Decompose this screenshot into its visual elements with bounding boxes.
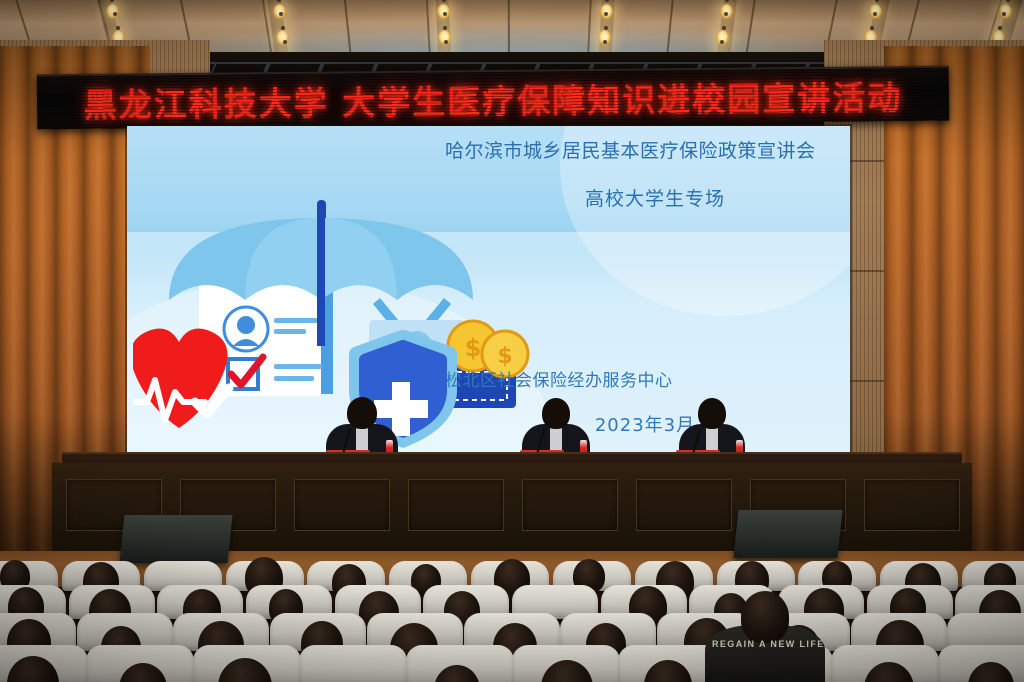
stage-front-panel xyxy=(636,479,732,531)
speaker-shirt xyxy=(550,428,562,450)
ceiling-vent-dot xyxy=(279,12,283,16)
ceiling-vent-dot xyxy=(444,40,448,44)
ceiling-vent-dot xyxy=(1006,0,1010,2)
ceiling-vent-dot xyxy=(724,12,728,16)
audience-head xyxy=(741,591,789,643)
ceiling-vent-dot xyxy=(281,26,285,30)
ceiling-vent-dot xyxy=(113,12,117,16)
ceiling-downlight xyxy=(106,4,119,19)
speaker-head xyxy=(542,398,570,429)
projection-screen: $ $ xyxy=(127,126,850,453)
ceiling-vent-dot xyxy=(604,26,608,30)
stage-front-panel xyxy=(408,479,504,531)
ceiling-vent-dot xyxy=(870,26,874,30)
speaker-head xyxy=(347,397,377,429)
ceiling-vent-dot xyxy=(722,26,726,30)
ceiling-vent-dot xyxy=(998,26,1002,30)
audience-seat xyxy=(299,645,407,682)
ceiling-vent-dot xyxy=(603,40,607,44)
speaker-head xyxy=(698,398,726,429)
audience-jacket-text: REGAIN A NEW LIFE xyxy=(712,639,825,649)
slide-subtitle: 高校大学生专场 xyxy=(445,184,850,211)
ceiling-vent-dot xyxy=(443,12,447,16)
heart-ecg-icon xyxy=(133,329,229,452)
audience-seating: REGAIN A NEW LIFE xyxy=(0,555,1024,682)
svg-text:$: $ xyxy=(465,334,482,362)
led-banner-text: 黑龙江科技大学 大学生医疗保障知识进校园宣讲活动 xyxy=(84,71,903,127)
slide-organization: 松北区社会保险经办服务中心 xyxy=(445,366,850,391)
stage-front-panel xyxy=(864,479,960,531)
ceiling-vent-dot xyxy=(110,0,114,2)
stage-front-panel xyxy=(294,479,390,531)
stage-front-panel xyxy=(522,479,618,531)
auditorium-photo: 黑龙江科技大学 大学生医疗保障知识进校园宣讲活动 xyxy=(0,0,1024,682)
speaker-shirt xyxy=(706,428,718,450)
truss-rail xyxy=(210,62,850,64)
ceiling-vent-dot xyxy=(283,40,287,44)
slide-date: 2023年3月 xyxy=(445,411,845,437)
led-banner: 黑龙江科技大学 大学生医疗保障知识进校园宣讲活动 xyxy=(37,66,949,130)
speaker-shirt xyxy=(356,428,368,450)
slide-title: 哈尔滨市城乡居民基本医疗保险政策宣讲会 xyxy=(445,136,850,163)
stage-monitor-speaker-right xyxy=(733,510,842,558)
ceiling-vent-dot xyxy=(873,12,877,16)
ceiling-vent-dot xyxy=(1002,12,1006,16)
ceiling-downlight xyxy=(999,4,1012,19)
